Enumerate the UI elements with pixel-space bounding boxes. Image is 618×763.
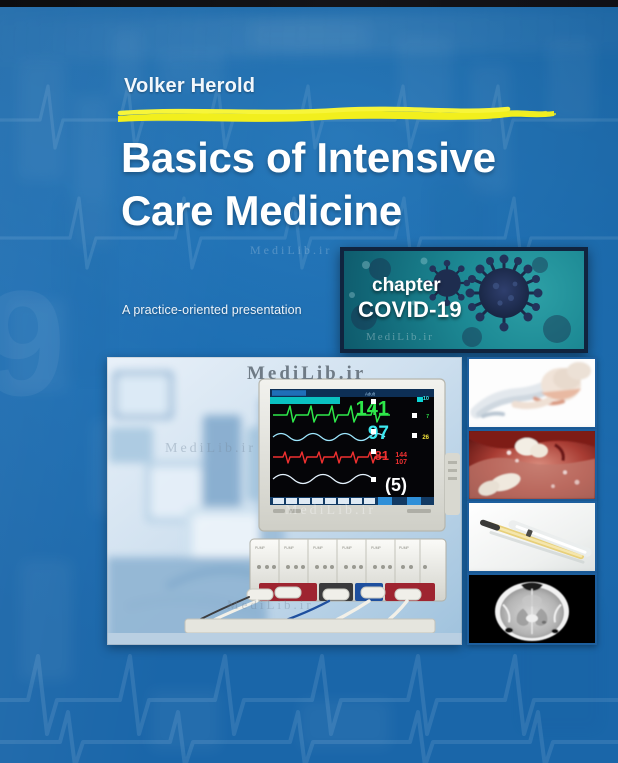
svg-text:107: 107 [395,459,407,466]
covid-chapter-badge: chapter COVID-19 MediLib.ir [340,247,588,353]
svg-text:Adult: Adult [365,391,376,396]
svg-text:PUMP: PUMP [399,546,410,550]
svg-text:26: 26 [422,435,429,441]
svg-text:PUMP: PUMP [313,546,324,550]
covid-badge-text: chapter COVID-19 [358,275,462,323]
book-cover: 9 Volker Herold Basics of Intensive Care… [0,0,618,763]
airway-intubation-photo [467,357,597,429]
svg-text:7: 7 [426,414,429,420]
catheter-guidewire-photo [467,501,597,573]
thumbnail-strip [467,357,593,645]
covid-badge-line-2: COVID-19 [358,297,462,323]
highlighter-stroke [116,104,556,126]
author-name: Volker Herold [124,75,255,98]
top-dark-strip [0,0,618,7]
head-ct-scan-photo [467,573,597,645]
svg-text:10: 10 [423,396,429,402]
subtitle: A practice-oriented presentation [122,303,302,317]
svg-text:144: 144 [395,452,407,459]
covid-badge-line-1: chapter [358,275,462,297]
title-line-2: Care Medicine [121,185,591,238]
svg-text:81: 81 [375,448,389,463]
title-line-1: Basics of Intensive [121,132,591,185]
page-title: Basics of Intensive Care Medicine [121,132,591,237]
svg-text:PUMP: PUMP [284,546,295,550]
photo-montage: Adult 141 97 81 144 10 [107,357,593,645]
svg-text:(5): (5) [385,475,407,495]
endoscopy-tissue-photo [467,429,597,501]
svg-text:PUMP: PUMP [342,546,353,550]
icu-monitor-photo: Adult 141 97 81 144 10 [107,357,462,645]
svg-text:PUMP: PUMP [255,546,266,550]
svg-text:PUMP: PUMP [371,546,382,550]
badge-watermark: MediLib.ir [366,331,434,343]
